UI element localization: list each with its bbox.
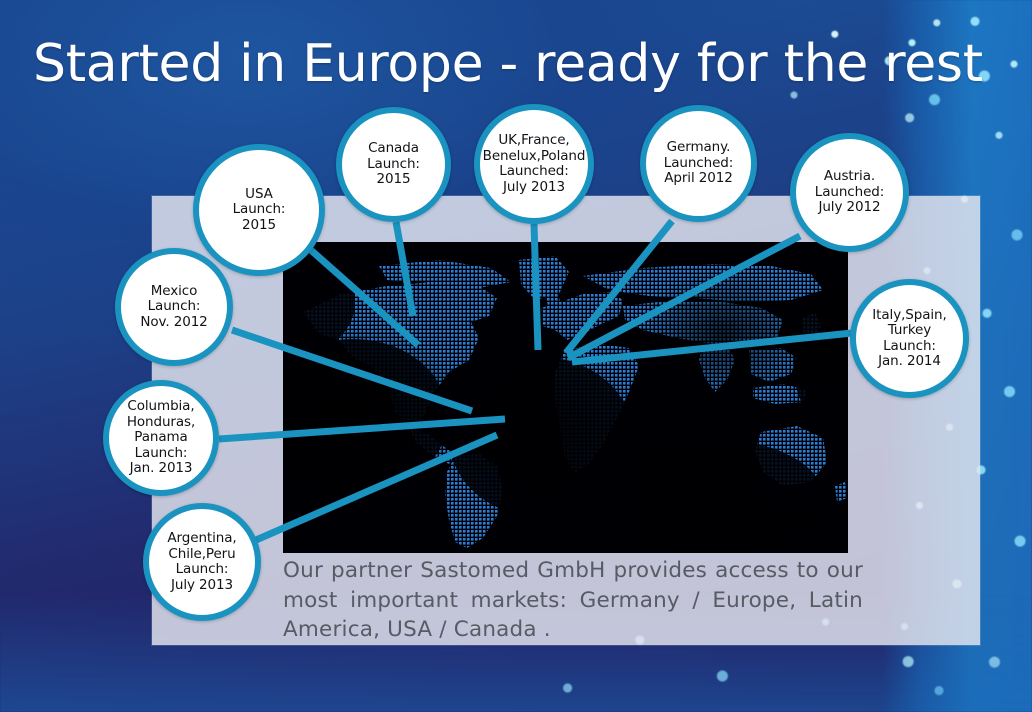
callout-label-canada: Canada Launch: 2015 [361, 141, 426, 188]
callout-bubble-canada[interactable]: Canada Launch: 2015 [336, 107, 451, 222]
callout-bubble-usa[interactable]: USA Launch: 2015 [193, 144, 325, 276]
callout-label-argentina: Argentina, Chile,Peru Launch: July 2013 [161, 531, 242, 593]
callout-label-italy: Italy,Spain, Turkey Launch: Jan. 2014 [866, 308, 952, 370]
caption-text: Our partner Sastomed GmbH provides acces… [283, 556, 863, 645]
callout-bubble-austria[interactable]: Austria. Launched: July 2012 [790, 133, 909, 252]
callout-label-mexico: Mexico Launch: Nov. 2012 [134, 284, 213, 331]
callout-bubble-italy[interactable]: Italy,Spain, Turkey Launch: Jan. 2014 [850, 279, 969, 398]
callout-label-uk: UK,France, Benelux,Poland Launched: July… [477, 133, 592, 195]
callout-bubble-mexico[interactable]: Mexico Launch: Nov. 2012 [115, 248, 233, 366]
callout-bubble-argentina[interactable]: Argentina, Chile,Peru Launch: July 2013 [143, 503, 261, 621]
callout-label-germany: Germany. Launched: April 2012 [658, 140, 739, 187]
map-vignette [283, 242, 848, 553]
callout-label-austria: Austria. Launched: July 2012 [809, 169, 890, 216]
callout-label-columbia: Columbia, Honduras, Panama Launch: Jan. … [121, 399, 201, 477]
page-title: Started in Europe - ready for the rest [33, 34, 983, 94]
callout-bubble-uk[interactable]: UK,France, Benelux,Poland Launched: July… [474, 104, 594, 224]
callout-label-usa: USA Launch: 2015 [227, 187, 292, 234]
callout-bubble-germany[interactable]: Germany. Launched: April 2012 [640, 105, 757, 222]
slide-canvas: Started in Europe - ready for the rest [0, 0, 1032, 712]
world-map [283, 242, 848, 553]
callout-bubble-columbia[interactable]: Columbia, Honduras, Panama Launch: Jan. … [103, 380, 219, 496]
